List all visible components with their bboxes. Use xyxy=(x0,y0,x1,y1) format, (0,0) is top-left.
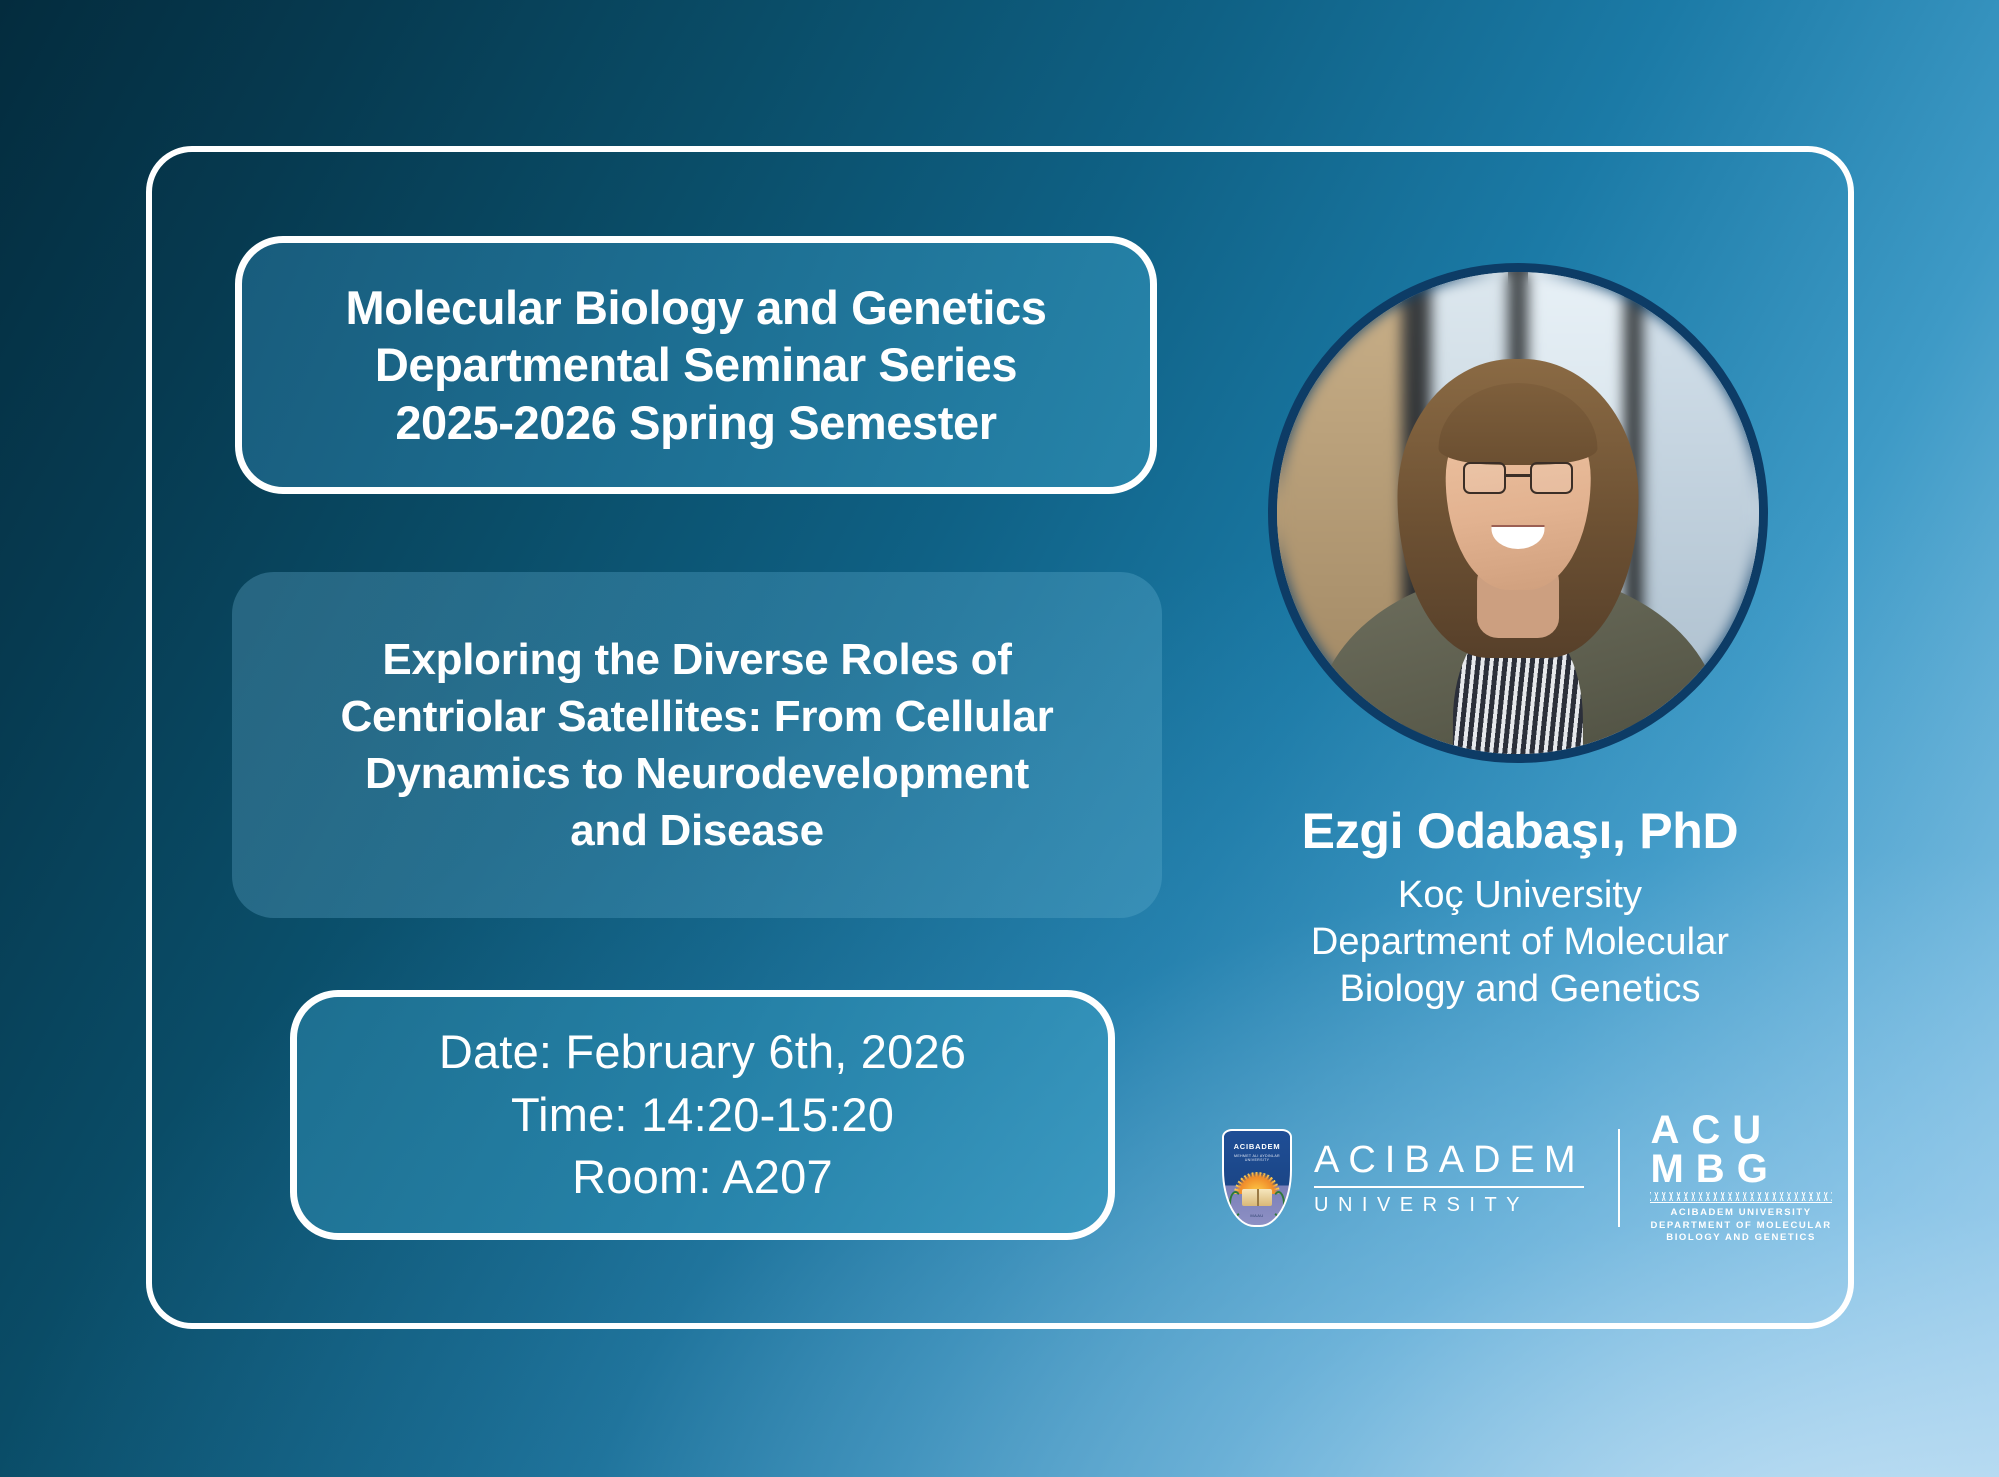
speaker-photo-image xyxy=(1277,272,1759,754)
acu-mbg-line-1: ACU xyxy=(1650,1111,1831,1150)
acu-mbg-line-2: MBG xyxy=(1650,1150,1831,1189)
event-date: Date: February 6th, 2026 xyxy=(439,1021,966,1084)
speaker-photo xyxy=(1268,263,1768,763)
seminar-title-line-4: and Disease xyxy=(570,802,824,859)
acibadem-wordmark-rule xyxy=(1314,1186,1584,1188)
event-room: Room: A207 xyxy=(572,1146,833,1209)
seminar-title-line-3: Dynamics to Neurodevelopment xyxy=(365,745,1029,802)
series-title-line-3: 2025-2026 Spring Semester xyxy=(395,394,996,451)
speaker-affiliation: Koç University Department of Molecular B… xyxy=(1180,872,1860,1013)
series-title-line-2: Departmental Seminar Series xyxy=(375,336,1017,393)
logo-strip: ACIBADEM MEHMET ALI AYDINLAR UNIVERSITY … xyxy=(1222,1112,1802,1244)
photo-person-glasses-bridge xyxy=(1506,474,1530,477)
dna-helix-icon xyxy=(1650,1192,1831,1203)
acibadem-crest-icon: ACIBADEM MEHMET ALI AYDINLAR UNIVERSITY … xyxy=(1222,1129,1292,1227)
crest-open-book-icon xyxy=(1242,1189,1272,1206)
acu-mbg-subtitle-line-2: DEPARTMENT OF MOLECULAR xyxy=(1650,1220,1831,1233)
speaker-affiliation-line-3: Biology and Genetics xyxy=(1180,966,1860,1013)
acu-mbg-subtitle-line-3: BIOLOGY AND GENETICS xyxy=(1650,1232,1831,1245)
acibadem-university-wordmark: ACIBADEM UNIVERSITY xyxy=(1314,1141,1584,1215)
acu-mbg-logo: ACU MBG ACIBADEM UNIVERSITY DEPARTMENT O… xyxy=(1650,1111,1831,1245)
speaker-name: Ezgi Odabaşı, PhD xyxy=(1180,802,1860,860)
speaker-affiliation-line-2: Department of Molecular xyxy=(1180,919,1860,966)
crest-subtitle: MEHMET ALI AYDINLAR UNIVERSITY xyxy=(1224,1154,1290,1163)
series-title-box: Molecular Biology and Genetics Departmen… xyxy=(235,236,1157,494)
speaker-affiliation-line-1: Koç University xyxy=(1180,872,1860,919)
logo-divider xyxy=(1618,1129,1620,1227)
photo-person-glasses-right xyxy=(1530,462,1573,493)
seminar-title-line-1: Exploring the Diverse Roles of xyxy=(382,631,1011,688)
seminar-title-box: Exploring the Diverse Roles of Centriola… xyxy=(232,572,1162,918)
acibadem-wordmark-bottom: UNIVERSITY xyxy=(1314,1195,1584,1215)
acu-mbg-subtitle-line-1: ACIBADEM UNIVERSITY xyxy=(1650,1207,1831,1220)
crest-name: ACIBADEM xyxy=(1224,1142,1290,1151)
series-title-line-1: Molecular Biology and Genetics xyxy=(346,279,1047,336)
event-time: Time: 14:20-15:20 xyxy=(511,1084,894,1147)
crest-motto: MAAU xyxy=(1224,1213,1290,1218)
photo-person-glasses-left xyxy=(1463,462,1506,493)
acibadem-wordmark-top: ACIBADEM xyxy=(1314,1141,1584,1179)
seminar-title-line-2: Centriolar Satellites: From Cellular xyxy=(341,688,1054,745)
crest-shield-shape: ACIBADEM MEHMET ALI AYDINLAR UNIVERSITY … xyxy=(1222,1129,1292,1227)
event-details-box: Date: February 6th, 2026 Time: 14:20-15:… xyxy=(290,990,1115,1240)
